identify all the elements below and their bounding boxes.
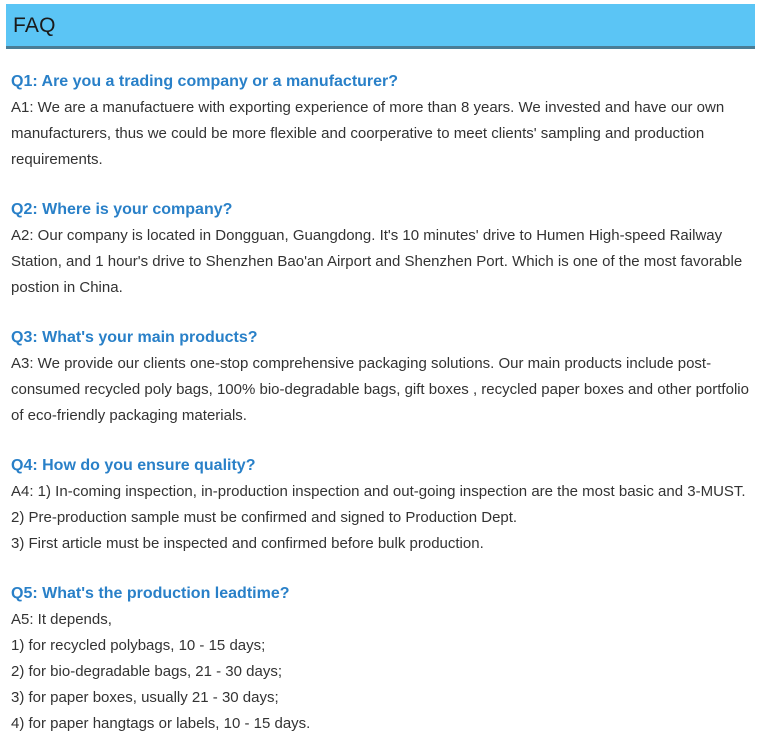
faq-item: Q1: Are you a trading company or a manuf… [11,70,751,173]
faq-item: Q4: How do you ensure quality?A4: 1) In-… [11,454,751,557]
faq-answer: A3: We provide our clients one-stop comp… [11,351,751,429]
faq-answer-line: 4) for paper hangtags or labels, 10 - 15… [11,711,751,737]
faq-answer-line: A5: It depends, [11,607,751,633]
faq-answer-line: A1: We are a manufactuere with exporting… [11,95,751,173]
page-title: FAQ [6,15,56,36]
faq-answer-line: A2: Our company is located in Dongguan, … [11,223,751,301]
faq-question: Q3: What's your main products? [11,326,751,349]
faq-answer-line: 1) for recycled polybags, 10 - 15 days; [11,633,751,659]
faq-answer: A5: It depends,1) for recycled polybags,… [11,607,751,737]
faq-answer-line: A3: We provide our clients one-stop comp… [11,351,751,429]
faq-question: Q1: Are you a trading company or a manuf… [11,70,751,93]
faq-answer-line: 2) for bio-degradable bags, 21 - 30 days… [11,659,751,685]
faq-item: Q5: What's the production leadtime?A5: I… [11,582,751,737]
faq-answer: A1: We are a manufactuere with exporting… [11,95,751,173]
faq-list: Q1: Are you a trading company or a manuf… [11,70,751,737]
faq-question: Q5: What's the production leadtime? [11,582,751,605]
faq-item: Q3: What's your main products?A3: We pro… [11,326,751,429]
faq-answer: A2: Our company is located in Dongguan, … [11,223,751,301]
faq-answer-line: 3) for paper boxes, usually 21 - 30 days… [11,685,751,711]
faq-answer-line: A4: 1) In-coming inspection, in-producti… [11,479,751,505]
faq-answer: A4: 1) In-coming inspection, in-producti… [11,479,751,557]
faq-answer-line: 2) Pre-production sample must be confirm… [11,505,751,531]
faq-page: FAQ Q1: Are you a trading company or a m… [0,0,765,748]
faq-question: Q4: How do you ensure quality? [11,454,751,477]
faq-item: Q2: Where is your company?A2: Our compan… [11,198,751,301]
faq-header-bar: FAQ [6,4,755,49]
faq-question: Q2: Where is your company? [11,198,751,221]
faq-answer-line: 3) First article must be inspected and c… [11,531,751,557]
